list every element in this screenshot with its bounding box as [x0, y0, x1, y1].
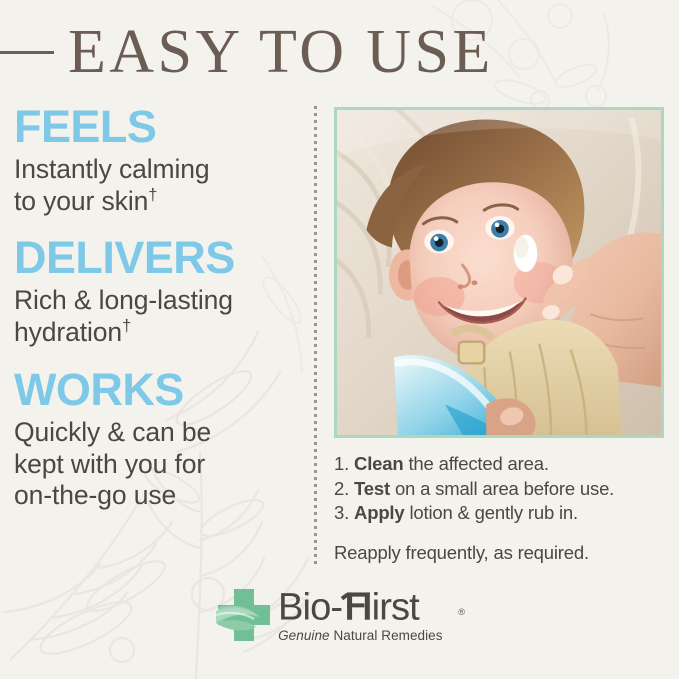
benefit-works: WORKS Quickly & can be kept with you for… [14, 367, 310, 512]
tagline-italic-word: Genuine [278, 628, 330, 643]
usage-instructions: 1. Clean the affected area. 2. Test on a… [334, 452, 674, 564]
bio-first-cross-leaf-icon [214, 587, 272, 643]
step-action: Test [354, 478, 390, 499]
benefit-description-works: Quickly & can be kept with you for on-th… [14, 417, 310, 512]
benefit-description-delivers: Rich & long-lasting hydration† [14, 285, 310, 349]
tagline-rest: Natural Remedies [333, 628, 442, 643]
benefits-column: FEELS Instantly calming to your skin† DE… [14, 104, 310, 530]
step-text: on a small area before use. [395, 478, 614, 499]
product-usage-photo [337, 110, 661, 435]
benefit-title-delivers: DELIVERS [14, 235, 310, 281]
page-header: EASY TO USE [0, 16, 679, 88]
svg-text:Bio-: Bio- [278, 587, 342, 627]
step-number: 2. [334, 478, 349, 499]
brand-wordmark-row: Bio- irst ® [278, 587, 465, 627]
dagger-footnote-marker: † [122, 317, 131, 335]
step-action: Apply [354, 502, 404, 523]
benefit-feels: FEELS Instantly calming to your skin† [14, 104, 310, 217]
benefit-works-line3: on-the-go use [14, 480, 176, 510]
brand-tagline: Genuine Natural Remedies [278, 628, 442, 643]
product-usage-photo-frame [334, 107, 664, 438]
step-text: lotion & gently rub in. [409, 502, 578, 523]
brand-logo: Bio- irst ® Genuin [0, 582, 679, 648]
benefit-delivers-line1: Rich & long-lasting [14, 285, 233, 315]
benefit-description-feels: Instantly calming to your skin† [14, 154, 310, 218]
benefit-works-line1: Quickly & can be [14, 417, 211, 447]
step-number: 1. [334, 453, 349, 474]
svg-text:irst: irst [372, 587, 421, 627]
promo-card: EASY TO USE FEELS Instantly calming to y… [0, 0, 679, 679]
instruction-step: 2. Test on a small area before use. [334, 477, 674, 502]
instruction-step: 1. Clean the affected area. [334, 452, 674, 477]
registered-trademark-symbol: ® [458, 607, 465, 617]
benefit-feels-line1: Instantly calming [14, 154, 210, 184]
vertical-dotted-divider [314, 106, 317, 566]
brand-text-block: Bio- irst ® Genuin [278, 587, 465, 643]
benefit-works-line2: kept with you for [14, 449, 205, 479]
step-action: Clean [354, 453, 403, 474]
bio-first-wordmark: Bio- irst [278, 587, 456, 627]
dagger-footnote-marker: † [148, 186, 157, 204]
step-text: the affected area. [408, 453, 548, 474]
benefit-title-feels: FEELS [14, 104, 310, 150]
benefit-delivers: DELIVERS Rich & long-lasting hydration† [14, 235, 310, 348]
benefit-delivers-line2: hydration [14, 317, 122, 347]
reapply-note: Reapply frequently, as required. [334, 542, 674, 564]
page-title: EASY TO USE [68, 21, 494, 83]
header-rule-dash [0, 51, 54, 54]
step-number: 3. [334, 502, 349, 523]
instruction-step: 3. Apply lotion & gently rub in. [334, 501, 674, 526]
benefit-title-works: WORKS [14, 367, 310, 413]
benefit-feels-line2: to your skin [14, 186, 148, 216]
